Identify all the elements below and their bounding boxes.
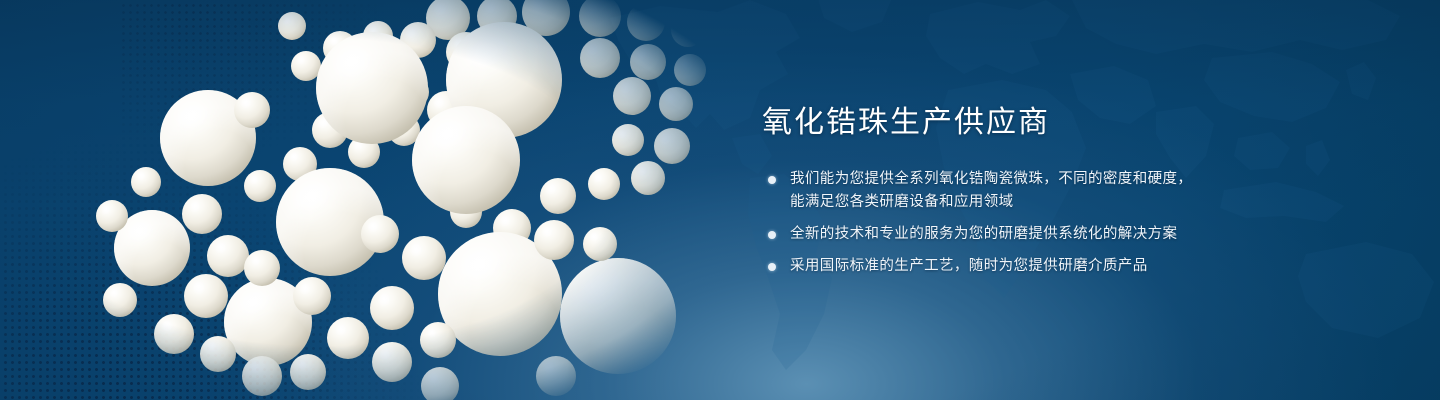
list-item: 全新的技术和专业的服务为您的研磨提供系统化的解决方案 (762, 223, 1382, 246)
page-title: 氧化锆珠生产供应商 (762, 104, 1382, 142)
bullet-dot-icon (768, 231, 776, 239)
bullet-dot-icon (768, 176, 776, 184)
list-item: 采用国际标准的生产工艺，随时为您提供研磨介质产品 (762, 255, 1382, 278)
list-item-line: 能满足您各类研磨设备和应用领域 (790, 191, 1382, 214)
list-item: 我们能为您提供全系列氧化锆陶瓷微珠，不同的密度和硬度， 能满足您各类研磨设备和应… (762, 168, 1382, 214)
hero-banner: 氧化锆珠生产供应商 我们能为您提供全系列氧化锆陶瓷微珠，不同的密度和硬度， 能满… (0, 0, 1440, 400)
bullet-dot-icon (768, 263, 776, 271)
banner-copy: 氧化锆珠生产供应商 我们能为您提供全系列氧化锆陶瓷微珠，不同的密度和硬度， 能满… (762, 104, 1382, 278)
list-item-line: 采用国际标准的生产工艺，随时为您提供研磨介质产品 (790, 255, 1382, 278)
list-item-line: 我们能为您提供全系列氧化锆陶瓷微珠，不同的密度和硬度， (790, 168, 1382, 191)
feature-list: 我们能为您提供全系列氧化锆陶瓷微珠，不同的密度和硬度， 能满足您各类研磨设备和应… (762, 168, 1382, 278)
list-item-line: 全新的技术和专业的服务为您的研磨提供系统化的解决方案 (790, 223, 1382, 246)
